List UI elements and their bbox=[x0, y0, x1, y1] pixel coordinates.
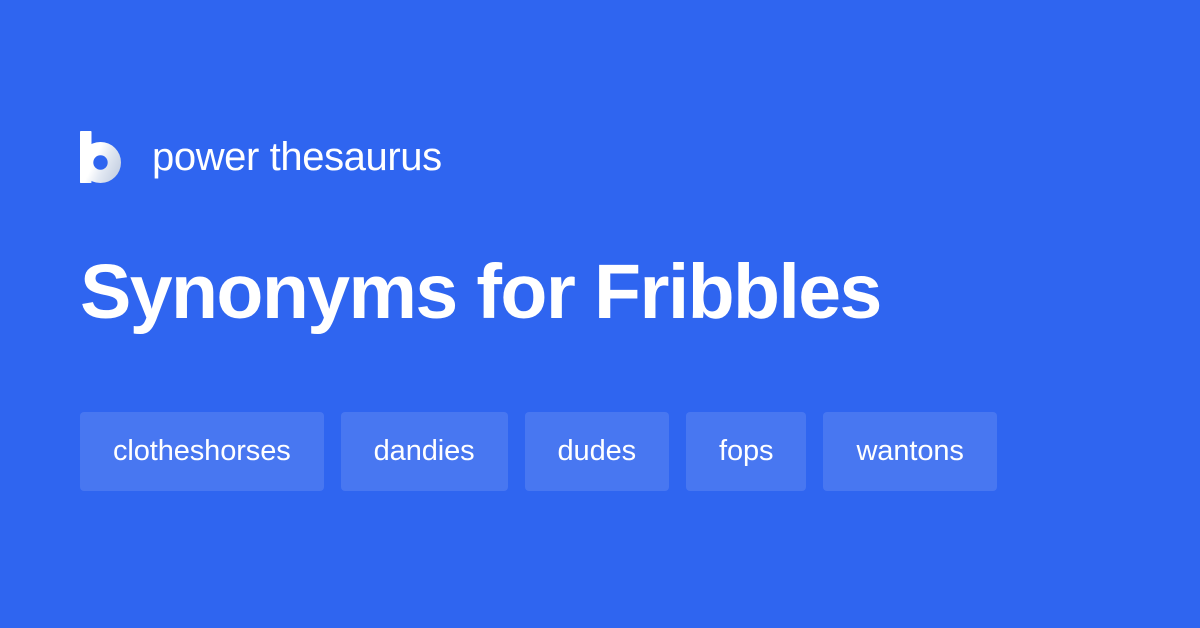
social-share-card: power thesaurus Synonyms for Fribbles cl… bbox=[0, 0, 1200, 628]
synonym-chip[interactable]: clotheshorses bbox=[80, 412, 324, 491]
synonym-chip[interactable]: fops bbox=[686, 412, 806, 491]
synonym-chip[interactable]: dudes bbox=[525, 412, 670, 491]
brand-name: power thesaurus bbox=[152, 137, 442, 177]
power-thesaurus-b-monogram-icon bbox=[80, 131, 122, 183]
synonym-chip[interactable]: wantons bbox=[823, 412, 996, 491]
brand-header[interactable]: power thesaurus bbox=[80, 126, 442, 188]
synonym-chip[interactable]: dandies bbox=[341, 412, 508, 491]
synonym-chip-list: clotheshorses dandies dudes fops wantons bbox=[80, 412, 1140, 491]
page-title: Synonyms for Fribbles bbox=[80, 252, 1130, 334]
